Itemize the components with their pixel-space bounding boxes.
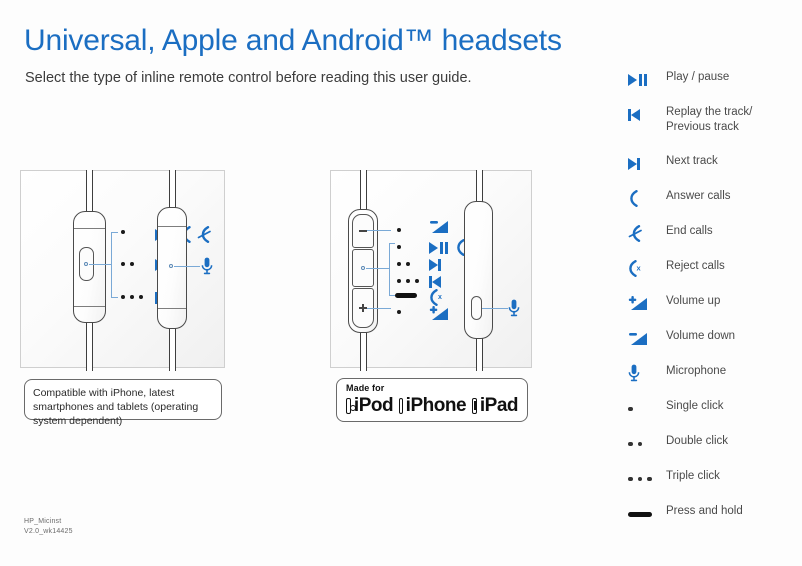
leader-center [366, 268, 389, 269]
ipod-label: iPod [354, 395, 393, 416]
apple-center-anchor-dot [361, 266, 365, 270]
apple-press-hold-indicator [395, 293, 417, 298]
ipad-label: iPad [480, 395, 518, 416]
microphone-icon [628, 364, 666, 382]
leader-center-bracket [389, 243, 390, 295]
volume-up-icon [628, 294, 666, 312]
next-track-icon [429, 259, 441, 271]
reject-calls-icon: x [628, 259, 666, 277]
legend-label: Single click [666, 399, 724, 414]
legend-item-microphone: Microphone [628, 364, 798, 399]
plus-glyph-v [362, 304, 364, 312]
legend-label: Next track [666, 154, 718, 169]
legend: Play / pause Replay the track/ Previous … [628, 70, 798, 539]
apple-row-triple-actions [429, 276, 441, 288]
triple-click-indicator [121, 295, 143, 299]
previous-track-icon [429, 276, 441, 288]
single-click-indicator [121, 230, 125, 234]
volume-up-icon [429, 306, 449, 322]
footer-line-2: V2.0_wk14425 [24, 527, 73, 537]
next-track-icon [628, 154, 666, 172]
universal-mic-anchor-dot [169, 264, 173, 268]
leader-button [89, 264, 111, 265]
page-title: Universal, Apple and Android™ headsets [24, 24, 562, 58]
end-calls-icon [628, 224, 666, 242]
legend-item-next-track: Next track [628, 154, 798, 189]
previous-track-icon [628, 105, 666, 123]
legend-item-volume-up: Volume up [628, 294, 798, 329]
iphone-label: iPhone [406, 395, 466, 416]
cable-right [169, 170, 176, 210]
leader-mic [174, 266, 200, 267]
legend-item-triple-click: Triple click [628, 469, 798, 504]
universal-button-anchor-dot [84, 262, 88, 266]
microphone-icon [508, 299, 520, 317]
end-calls-icon [197, 226, 212, 243]
legend-label: End calls [666, 224, 713, 239]
leader-apple-mic [482, 308, 508, 309]
answer-calls-icon [628, 189, 666, 207]
iphone-icon [399, 398, 403, 414]
volume-down-icon [429, 219, 449, 235]
made-for-devices: iPod iPhone iPad [346, 395, 518, 416]
apple-cable-left-lower [360, 331, 367, 371]
footer-line-1: HP_Micinst [24, 517, 73, 527]
legend-label: Volume down [666, 329, 735, 344]
triple-click-icon [628, 469, 666, 487]
play-pause-icon [628, 70, 666, 88]
legend-item-reject-calls: x Reject calls [628, 259, 798, 294]
made-for-label: Made for [346, 383, 518, 394]
legend-label: Replay the track/ Previous track [666, 105, 752, 134]
cable-left-lower [86, 319, 93, 371]
legend-item-single-click: Single click [628, 399, 798, 434]
made-for-badge: Made for iPod iPhone iPad [336, 378, 528, 422]
leader-bracket-bottom [111, 297, 118, 298]
legend-label: Play / pause [666, 70, 729, 85]
document-footer: HP_Micinst V2.0_wk14425 [24, 517, 73, 536]
legend-item-double-click: Double click [628, 434, 798, 469]
apple-triple-click-indicator [397, 279, 419, 283]
user-guide-page: Universal, Apple and Android™ headsets S… [0, 0, 802, 566]
apple-headset-diagram: x [330, 170, 532, 368]
single-click-icon [628, 399, 666, 417]
legend-item-end-calls: End calls [628, 224, 798, 259]
cable-right-lower [169, 326, 176, 371]
legend-item-answer-calls: Answer calls [628, 189, 798, 224]
svg-text:x: x [637, 263, 642, 272]
legend-label: Volume up [666, 294, 720, 309]
apple-cable-right-lower [476, 337, 483, 371]
ipod-icon [346, 398, 351, 414]
universal-caption: Compatible with iPhone, latest smartphon… [24, 379, 222, 420]
minus-glyph [359, 230, 367, 232]
press-and-hold-icon [628, 504, 666, 522]
apple-cable-left [360, 170, 367, 210]
legend-label: Press and hold [666, 504, 743, 519]
ipad-icon [472, 398, 477, 414]
legend-label: Reject calls [666, 259, 725, 274]
legend-item-play-pause: Play / pause [628, 70, 798, 105]
leader-bracket-top [111, 232, 118, 233]
leader-volume-down [367, 230, 391, 231]
universal-headset-diagram [20, 170, 225, 368]
legend-item-previous-track: Replay the track/ Previous track [628, 105, 798, 154]
volume-down-icon [628, 329, 666, 347]
legend-label: Microphone [666, 364, 726, 379]
legend-item-press-and-hold: Press and hold [628, 504, 798, 539]
apple-mic-button[interactable] [471, 296, 482, 320]
apple-row-double-actions [429, 259, 441, 271]
double-click-icon [628, 434, 666, 452]
legend-label: Answer calls [666, 189, 731, 204]
page-subtitle: Select the type of inline remote control… [25, 70, 472, 86]
svg-text:x: x [438, 294, 442, 301]
apple-volume-down-dot [397, 228, 401, 232]
play-pause-icon [429, 242, 449, 254]
microphone-icon [201, 257, 213, 275]
apple-cable-right [476, 170, 483, 203]
universal-mic-body [157, 207, 187, 329]
double-click-indicator [121, 262, 134, 266]
legend-item-volume-down: Volume down [628, 329, 798, 364]
legend-label: Triple click [666, 469, 720, 484]
apple-double-click-indicator [397, 262, 410, 266]
legend-label: Double click [666, 434, 728, 449]
leader-volume-up [367, 308, 391, 309]
leader-bracket [111, 232, 112, 297]
reject-calls-icon: x [429, 289, 446, 306]
apple-single-click-indicator [397, 245, 401, 249]
apple-volume-up-dot [397, 310, 401, 314]
leader-center-top [389, 243, 395, 244]
